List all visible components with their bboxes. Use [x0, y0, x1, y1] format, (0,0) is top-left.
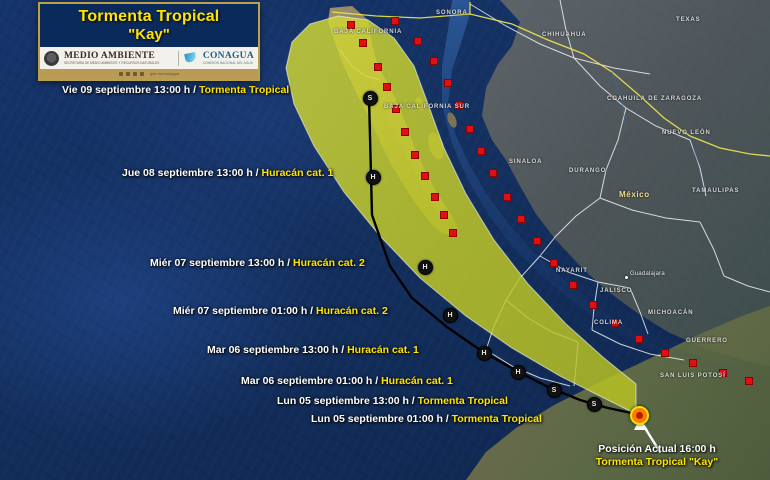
forecast-separator: / — [338, 344, 347, 356]
warning-square — [589, 301, 597, 309]
map-label-baja-california-sur: BAJA CALIFORNIA SUR — [384, 104, 470, 110]
warning-square — [391, 17, 399, 25]
map-label-guadalajara: Guadalajara — [630, 271, 665, 277]
hurricane-track-map: BAJA CALIFORNIA BAJA CALIFORNIA SUR SONO… — [0, 0, 770, 480]
map-label-sinaloa: SINALOA — [509, 159, 542, 165]
forecast-category: Tormenta Tropical — [199, 84, 289, 96]
map-label-tamaulipas: TAMAULIPAS — [692, 188, 739, 194]
social-media-bar: gob.mx/conagua — [40, 69, 258, 79]
forecast-label-mier-07-0100: Miér 07 septiembre 01:00 h / Huracán cat… — [173, 305, 388, 317]
forecast-separator: / — [284, 257, 293, 269]
social-handle: gob.mx/conagua — [150, 72, 179, 76]
warning-square — [569, 281, 577, 289]
track-marker-mar-06-0100[interactable]: H — [511, 365, 526, 380]
facebook-icon[interactable] — [119, 72, 123, 76]
current-position-caption: Posición Actual 16:00 h Tormenta Tropica… — [552, 443, 762, 469]
forecast-date: Vie 09 septiembre 13:00 h — [62, 84, 190, 96]
current-position-storm: Tormenta Tropical "Kay" — [552, 456, 762, 469]
forecast-date: Lun 05 septiembre 13:00 h — [277, 395, 409, 407]
map-label-jalisco: JALISCO — [600, 288, 632, 294]
agency-subtitle: SECRETARÍA DE MEDIO AMBIENTE Y RECURSOS … — [64, 61, 173, 65]
forecast-date: Mar 06 septiembre 13:00 h — [207, 344, 338, 356]
forecast-date: Mar 06 septiembre 01:00 h — [241, 375, 372, 387]
conagua-water-icon — [184, 51, 198, 65]
forecast-label-mier-07-1300: Miér 07 septiembre 13:00 h / Huracán cat… — [150, 257, 365, 269]
forecast-label-mar-06-1300: Mar 06 septiembre 13:00 h / Huracán cat.… — [207, 344, 419, 356]
title-banner: Tormenta Tropical "Kay" MEDIO AMBIENTE S… — [38, 2, 260, 81]
forecast-category: Tormenta Tropical — [452, 413, 542, 425]
map-label-durango: DURANGO — [569, 168, 606, 174]
agency-name: MEDIO AMBIENTE — [64, 51, 173, 61]
warning-square — [503, 193, 511, 201]
map-label-texas: TEXAS — [676, 17, 701, 23]
warning-square — [444, 79, 452, 87]
forecast-category: Tormenta Tropical — [418, 395, 508, 407]
forecast-category: Huracán cat. 1 — [381, 375, 453, 387]
forecast-date: Miér 07 septiembre 01:00 h — [173, 305, 307, 317]
track-marker-mier-07-0100[interactable]: H — [443, 308, 458, 323]
warning-square — [421, 172, 429, 180]
track-marker-lun-05-0100[interactable]: S — [587, 397, 602, 412]
forecast-category: Huracán cat. 1 — [347, 344, 419, 356]
map-label-san-luis-potosi: SAN LUIS POTOSÍ — [660, 373, 726, 379]
forecast-separator: / — [253, 167, 262, 179]
eagle-seal-icon — [44, 51, 59, 66]
warning-square — [401, 128, 409, 136]
forecast-category: Huracán cat. 2 — [316, 305, 388, 317]
banner-subtitle: "Kay" — [40, 27, 258, 47]
map-label-baja-california: BAJA CALIFORNIA — [334, 29, 402, 35]
forecast-category: Huracán cat. 2 — [293, 257, 365, 269]
forecast-date: Lun 05 septiembre 01:00 h — [311, 413, 443, 425]
warning-square — [635, 335, 643, 343]
current-position-marker[interactable] — [630, 406, 649, 425]
map-label-nayarit: NAYARIT — [556, 268, 588, 274]
warning-square — [489, 169, 497, 177]
map-label-mexico: México — [619, 190, 650, 199]
warning-square — [374, 63, 382, 71]
warning-square — [661, 349, 669, 357]
instagram-icon[interactable] — [133, 72, 137, 76]
warning-square — [431, 193, 439, 201]
forecast-category: Huracán cat. 1 — [262, 167, 334, 179]
warning-square — [347, 21, 355, 29]
twitter-icon[interactable] — [126, 72, 130, 76]
warning-square — [440, 211, 448, 219]
warning-square — [745, 377, 753, 385]
warning-square — [430, 57, 438, 65]
forecast-separator: / — [443, 413, 452, 425]
logo-divider — [178, 51, 179, 66]
agency-logo-bar: MEDIO AMBIENTE SECRETARÍA DE MEDIO AMBIE… — [40, 47, 258, 69]
conagua-logo: CONAGUA COMISIÓN NACIONAL DEL AGUA — [203, 51, 254, 65]
city-dot-guadalajara — [625, 276, 628, 279]
map-label-chihuahua: CHIHUAHUA — [542, 32, 586, 38]
forecast-separator: / — [409, 395, 418, 407]
warning-square — [383, 83, 391, 91]
youtube-icon[interactable] — [140, 72, 144, 76]
track-marker-jue-08-1300[interactable]: H — [366, 170, 381, 185]
map-label-coahuila: COAHUILA DE ZARAGOZA — [607, 96, 702, 102]
warning-square — [533, 237, 541, 245]
conagua-subtitle: COMISIÓN NACIONAL DEL AGUA — [203, 61, 254, 65]
banner-title: Tormenta Tropical — [40, 4, 258, 27]
forecast-separator: / — [190, 84, 199, 96]
map-label-sonora: SONORA — [436, 10, 468, 16]
current-position-time: Posición Actual 16:00 h — [552, 443, 762, 456]
forecast-date: Jue 08 septiembre 13:00 h — [122, 167, 253, 179]
track-marker-vie-09-1300[interactable]: S — [363, 91, 378, 106]
forecast-date: Miér 07 septiembre 13:00 h — [150, 257, 284, 269]
track-marker-mar-06-1300[interactable]: H — [477, 346, 492, 361]
warning-square — [411, 151, 419, 159]
map-label-nuevo-leon: NUEVO LEÓN — [662, 130, 711, 136]
forecast-label-vie-09-1300: Vie 09 septiembre 13:00 h / Tormenta Tro… — [62, 84, 289, 96]
warning-square — [449, 229, 457, 237]
forecast-separator: / — [307, 305, 316, 317]
conagua-name: CONAGUA — [203, 51, 254, 61]
warning-square — [517, 215, 525, 223]
warning-square — [414, 37, 422, 45]
track-marker-mier-07-1300[interactable]: H — [418, 260, 433, 275]
warning-square — [466, 125, 474, 133]
track-marker-lun-05-1300[interactable]: S — [547, 383, 562, 398]
warning-square — [550, 259, 558, 267]
forecast-label-lun-05-0100: Lun 05 septiembre 01:00 h / Tormenta Tro… — [311, 413, 542, 425]
map-label-colima: COLIMA — [594, 320, 623, 326]
forecast-separator: / — [372, 375, 381, 387]
warning-square — [477, 147, 485, 155]
medio-ambiente-logo: MEDIO AMBIENTE SECRETARÍA DE MEDIO AMBIE… — [64, 51, 173, 65]
forecast-label-jue-08-1300: Jue 08 septiembre 13:00 h / Huracán cat.… — [122, 167, 333, 179]
forecast-label-lun-05-1300: Lun 05 septiembre 13:00 h / Tormenta Tro… — [277, 395, 508, 407]
map-label-michoacan: MICHOACÁN — [648, 310, 693, 316]
forecast-label-mar-06-0100: Mar 06 septiembre 01:00 h / Huracán cat.… — [241, 375, 453, 387]
warning-square — [359, 39, 367, 47]
map-label-guerrero: GUERRERO — [686, 338, 728, 344]
warning-square — [689, 359, 697, 367]
